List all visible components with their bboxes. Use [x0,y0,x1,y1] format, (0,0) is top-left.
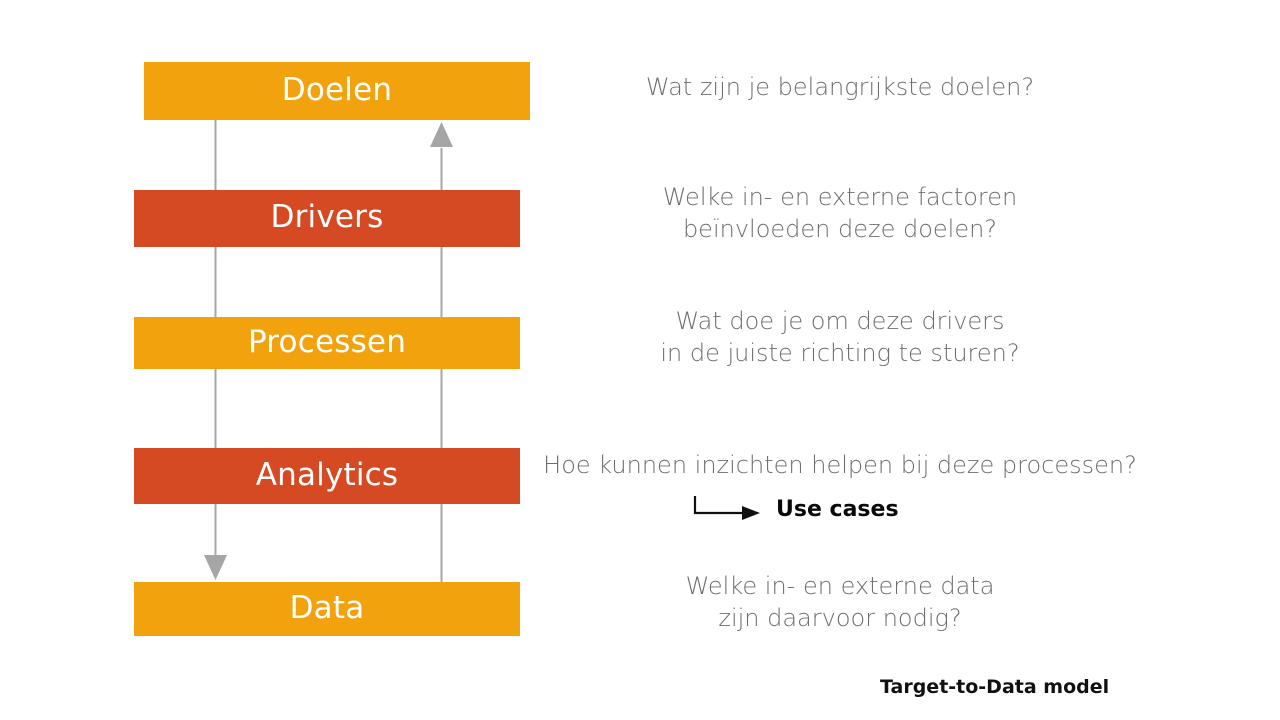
question-data: Welke in- en externe data zijn daarvoor … [560,571,1120,635]
arrow-up-icon [430,122,453,147]
stage-label-doelen: Doelen [282,75,392,106]
question-analytics: Hoe kunnen inzichten helpen bij deze pro… [530,450,1150,482]
diagram-title-caption: Target-to-Data model [880,676,1210,698]
stage-box-drivers[interactable]: Drivers [134,190,520,247]
stage-label-processen: Processen [248,327,406,358]
stage-label-data: Data [290,593,365,624]
stage-box-doelen[interactable]: Doelen [144,62,530,120]
question-processen: Wat doe je om deze drivers in de juiste … [560,306,1120,370]
elbow-right-arrow-icon [692,494,762,524]
use-cases-callout: Use cases [692,492,992,526]
arrow-down-icon [204,555,227,580]
stage-label-analytics: Analytics [256,460,399,491]
question-drivers: Welke in- en externe factoren beïnvloede… [560,182,1120,246]
stage-label-drivers: Drivers [271,202,384,233]
stage-box-data[interactable]: Data [134,582,520,636]
use-cases-label: Use cases [776,497,899,522]
stage-box-analytics[interactable]: Analytics [134,448,520,504]
target-to-data-diagram: Doelen Drivers Processen Analytics Data … [0,0,1280,720]
question-doelen: Wat zijn je belangrijkste doelen? [560,72,1120,104]
stage-box-processen[interactable]: Processen [134,317,520,369]
